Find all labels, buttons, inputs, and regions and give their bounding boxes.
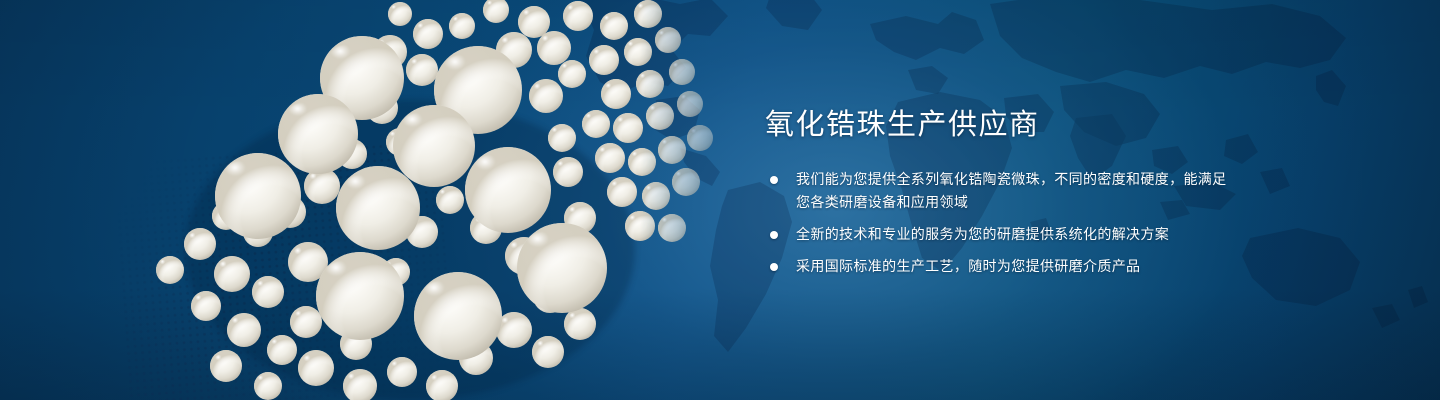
feature-list: 我们能为您提供全系列氧化锆陶瓷微珠，不同的密度和硬度，能满足您各类研磨设备和应用…: [765, 168, 1235, 278]
bullet-dot-icon: [770, 263, 778, 271]
bullet-dot-icon: [770, 176, 778, 184]
banner-copy: 氧化锆珠生产供应商 我们能为您提供全系列氧化锆陶瓷微珠，不同的密度和硬度，能满足…: [765, 108, 1235, 278]
list-item: 采用国际标准的生产工艺，随时为您提供研磨介质产品: [765, 255, 1235, 278]
list-item: 我们能为您提供全系列氧化锆陶瓷微珠，不同的密度和硬度，能满足您各类研磨设备和应用…: [765, 168, 1235, 214]
list-item-label: 我们能为您提供全系列氧化锆陶瓷微珠，不同的密度和硬度，能满足您各类研磨设备和应用…: [796, 168, 1235, 214]
hero-banner: 氧化锆珠生产供应商 我们能为您提供全系列氧化锆陶瓷微珠，不同的密度和硬度，能满足…: [0, 0, 1440, 400]
page-title: 氧化锆珠生产供应商: [765, 108, 1235, 142]
list-item-label: 全新的技术和专业的服务为您的研磨提供系统化的解决方案: [796, 223, 1235, 246]
list-item-label: 采用国际标准的生产工艺，随时为您提供研磨介质产品: [796, 255, 1235, 278]
bullet-dot-icon: [770, 231, 778, 239]
list-item: 全新的技术和专业的服务为您的研磨提供系统化的解决方案: [765, 223, 1235, 246]
zirconia-beads-image: [110, 0, 730, 400]
